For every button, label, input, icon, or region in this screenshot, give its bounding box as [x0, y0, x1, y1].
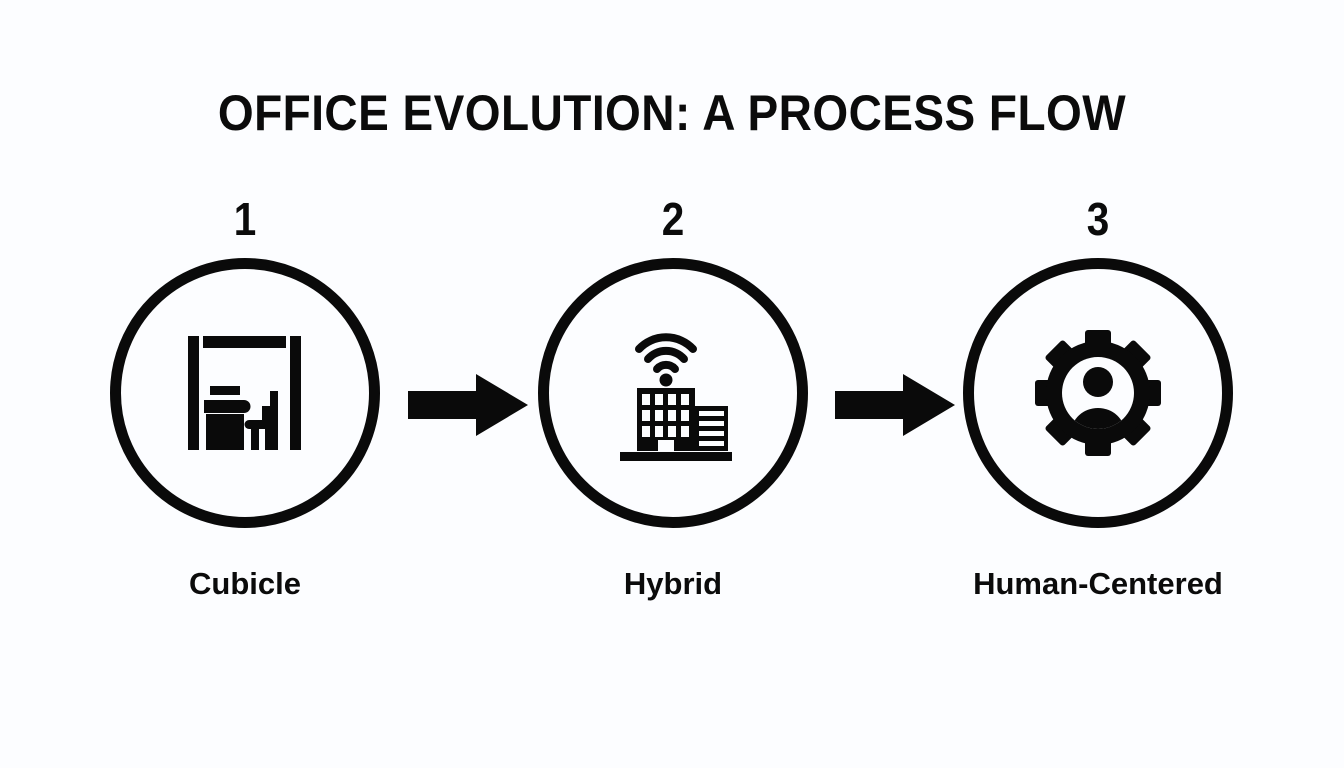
arrow-right-icon — [835, 372, 955, 438]
step-label-1: Cubicle — [45, 568, 445, 599]
flow-connector-1 — [408, 372, 528, 438]
step-label-2: Hybrid — [473, 568, 873, 599]
flow-step-2[interactable]: 2 — [513, 196, 833, 626]
step-label-3: Human-Centered — [898, 568, 1298, 599]
arrow-right-icon — [408, 372, 528, 438]
step-number-2: 2 — [532, 196, 814, 242]
office-building-wifi-icon — [598, 318, 748, 468]
page-title: OFFICE EVOLUTION: A PROCESS FLOW — [54, 88, 1290, 138]
gear-person-icon — [1023, 318, 1173, 468]
step-circle-3[interactable] — [963, 258, 1233, 528]
cubicle-workstation-icon — [170, 318, 320, 468]
flow-step-3[interactable]: 3 — [938, 196, 1258, 626]
flow-connector-2 — [835, 372, 955, 438]
step-circle-1[interactable] — [110, 258, 380, 528]
step-number-3: 3 — [957, 196, 1239, 242]
step-number-1: 1 — [104, 196, 386, 242]
step-circle-2[interactable] — [538, 258, 808, 528]
flow-step-1[interactable]: 1 — [85, 196, 405, 626]
slide-canvas: OFFICE EVOLUTION: A PROCESS FLOW 1 — [0, 0, 1344, 768]
process-flow: 1 — [0, 196, 1344, 626]
